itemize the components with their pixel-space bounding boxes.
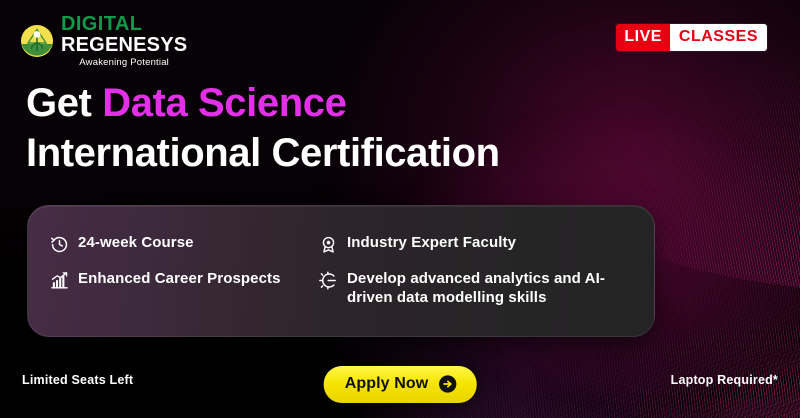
magenta-glow-top-right	[320, 0, 800, 400]
headline-highlight-data-science: Data Science	[102, 81, 346, 125]
headline-line-1: Get Data Science	[26, 82, 500, 125]
bar-chart-icon	[50, 271, 69, 290]
apply-now-button[interactable]: Apply Now	[324, 366, 477, 403]
promo-banner: DIGITAL REGENESYS Awakening Potential LI…	[0, 0, 800, 418]
feature-item-analytics: Develop advanced analytics and AI-driven…	[319, 270, 630, 308]
feature-item-duration: 24-week Course	[50, 234, 305, 254]
brand-logo[interactable]: DIGITAL REGENESYS Awakening Potential	[20, 14, 187, 68]
status-badge-live-classes: LIVE CLASSES	[616, 24, 767, 51]
gear-icon	[319, 271, 338, 290]
feature-item-faculty: Industry Expert Faculty	[319, 234, 630, 254]
tree-emblem-icon	[20, 24, 54, 58]
award-icon	[319, 235, 338, 254]
laptop-required-note: Laptop Required*	[671, 373, 778, 387]
feature-item-career: Enhanced Career Prospects	[50, 270, 305, 308]
logo-tagline: Awakening Potential	[61, 58, 187, 68]
badge-live-label: LIVE	[616, 24, 670, 51]
badge-classes-label: CLASSES	[670, 24, 767, 51]
features-card: 24-week Course Industry Expert Faculty	[27, 205, 655, 337]
apply-now-label: Apply Now	[345, 375, 429, 393]
headline-line-2: International Certification	[26, 131, 500, 176]
feature-label: 24-week Course	[78, 234, 194, 253]
clock-icon	[50, 235, 69, 254]
limited-seats-note: Limited Seats Left	[22, 373, 133, 387]
logo-line-regenesys: REGENESYS	[61, 35, 187, 55]
logo-line-digital: DIGITAL	[61, 14, 187, 34]
headline-word-get: Get	[26, 81, 102, 125]
page-title: Get Data Science International Certifica…	[26, 82, 500, 176]
feature-label: Industry Expert Faculty	[347, 234, 516, 253]
feature-label: Enhanced Career Prospects	[78, 270, 281, 289]
arrow-right-circle-icon	[437, 374, 457, 394]
feature-label: Develop advanced analytics and AI-driven…	[347, 270, 630, 308]
